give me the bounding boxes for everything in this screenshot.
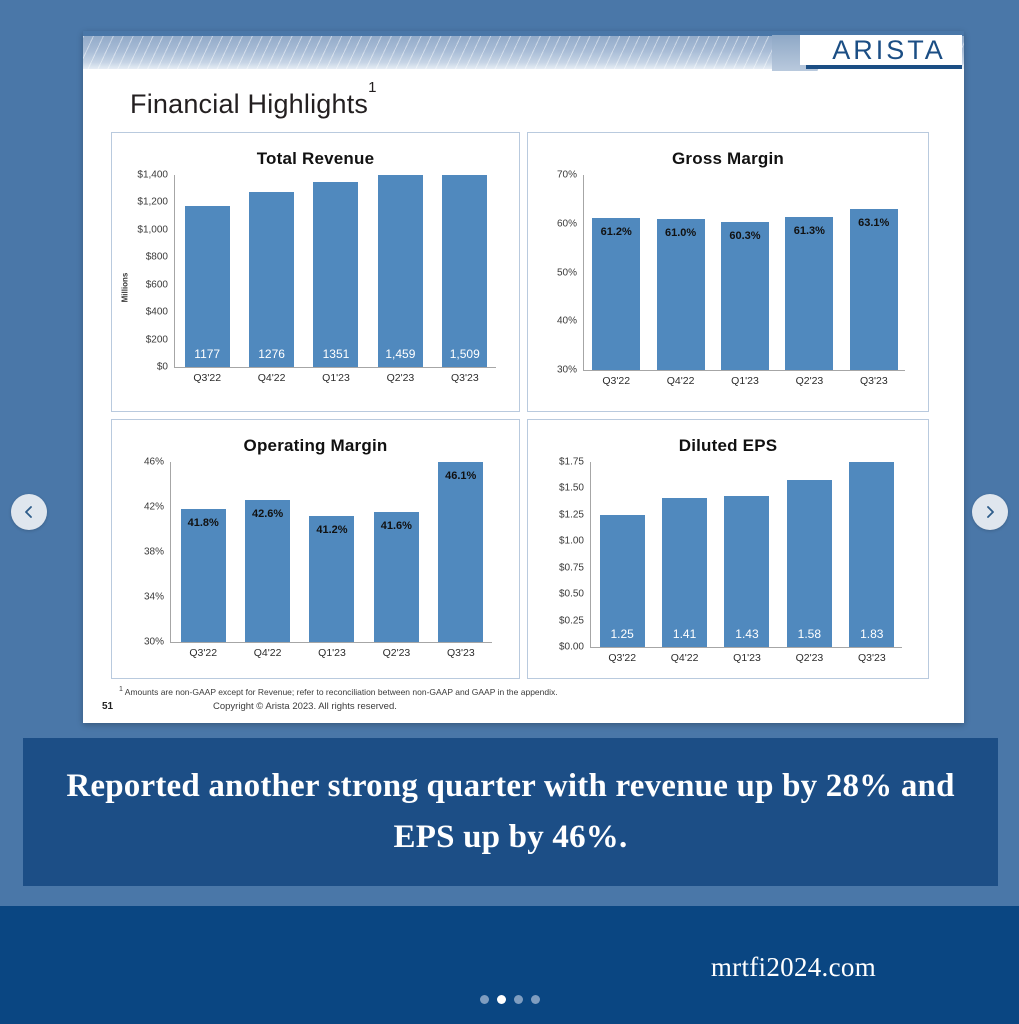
page-title-text: Financial Highlights (130, 89, 368, 119)
carousel-stage: ARISTA Financial Highlights1 Total Reven… (0, 0, 1019, 900)
y-axis-tick-label: 30% (112, 637, 164, 648)
bar-data-label: 1.43 (724, 627, 769, 641)
x-axis-tick-label: Q3'22 (171, 647, 235, 659)
bar-data-label: 1351 (313, 347, 358, 361)
bar-series: 41.8%42.6%41.2%41.6%46.1% (171, 462, 493, 642)
footer-bar: mrtfi2024.com (0, 906, 1019, 1024)
y-axis-tick-label: $1.00 (528, 536, 584, 547)
presentation-slide: ARISTA Financial Highlights1 Total Reven… (83, 31, 964, 723)
bar-data-label: 61.2% (586, 226, 646, 238)
x-axis-labels: Q3'22Q4'22Q1'23Q2'23Q3'23 (171, 647, 493, 659)
bar-data-label: 1,459 (378, 347, 423, 361)
bar: 63.1% (850, 209, 898, 370)
carousel-prev-button[interactable] (11, 494, 47, 530)
y-axis-tick-label: $1.50 (528, 483, 584, 494)
bar-data-label: 1276 (249, 347, 294, 361)
bar: 1.83 (849, 462, 894, 647)
x-axis-line (170, 642, 492, 643)
x-axis-tick-label: Q2'23 (368, 372, 432, 384)
bar: 61.3% (785, 217, 833, 370)
copyright-notice: Copyright © Arista 2023. All rights rese… (213, 701, 397, 712)
chart-title-operating-margin: Operating Margin (112, 436, 519, 456)
carousel-next-button[interactable] (972, 494, 1008, 530)
carousel-dot-1[interactable] (480, 995, 489, 1004)
y-axis-tick-label: $0 (112, 362, 168, 373)
bar: 60.3% (721, 222, 769, 370)
y-axis-tick-label: $1.25 (528, 509, 584, 520)
bar-data-label: 1177 (185, 347, 230, 361)
chart-title-diluted-eps: Diluted EPS (528, 436, 928, 456)
bar-column: 60.3% (721, 175, 769, 370)
chart-card-diluted-eps: Diluted EPS $0.00$0.25$0.50$0.75$1.00$1.… (527, 419, 929, 679)
bar-data-label: 1.58 (787, 627, 832, 641)
y-axis-tick-label: 70% (528, 170, 577, 181)
bar: 1.58 (787, 480, 832, 647)
bar-data-label: 1,509 (442, 347, 487, 361)
x-axis-tick-label: Q1'23 (716, 652, 778, 664)
caption-text: Reported another strong quarter with rev… (63, 761, 958, 863)
bar-column: 63.1% (850, 175, 898, 370)
bar: 61.0% (657, 219, 705, 370)
page-title: Financial Highlights1 (130, 89, 377, 120)
x-axis-line (583, 370, 905, 371)
chevron-left-icon (22, 505, 36, 519)
bar-column: 46.1% (438, 462, 483, 642)
x-axis-tick-label: Q4'22 (653, 652, 715, 664)
carousel-dots[interactable] (0, 995, 1019, 1004)
bar-column: 1.83 (849, 462, 894, 647)
y-axis-tick-label: 38% (112, 547, 164, 558)
arista-logo: ARISTA (772, 35, 962, 71)
chevron-right-icon (983, 505, 997, 519)
y-axis-tick-label: 60% (528, 218, 577, 229)
page-title-superscript: 1 (368, 79, 377, 96)
x-axis-tick-label: Q4'22 (648, 375, 712, 387)
bar-column: 1177 (185, 175, 230, 367)
bar: 42.6% (245, 500, 290, 642)
bar-column: 1.41 (662, 462, 707, 647)
slide-page-number: 51 (102, 701, 113, 712)
bar-data-label: 41.6% (368, 520, 425, 532)
x-axis-tick-label: Q1'23 (304, 372, 368, 384)
x-axis-tick-label: Q1'23 (713, 375, 777, 387)
bar: 61.2% (592, 218, 640, 370)
x-axis-tick-label: Q3'22 (175, 372, 239, 384)
bar-column: 1,509 (442, 175, 487, 367)
bar-column: 1,459 (378, 175, 423, 367)
carousel-dot-2[interactable] (497, 995, 506, 1004)
bar-column: 41.6% (374, 462, 419, 642)
carousel-dot-4[interactable] (531, 995, 540, 1004)
site-url: mrtfi2024.com (711, 952, 876, 983)
x-axis-tick-label: Q3'22 (591, 652, 653, 664)
bar-data-label: 60.3% (715, 230, 775, 242)
footnote: 1 Amounts are non-GAAP except for Revenu… (119, 686, 558, 697)
y-axis-tick-label: $200 (112, 334, 168, 345)
y-axis-tick-label: $1,200 (112, 197, 168, 208)
bar-column: 41.2% (309, 462, 354, 642)
bar: 1351 (313, 182, 358, 367)
bar: 1,459 (378, 175, 423, 367)
bar-column: 1.58 (787, 462, 832, 647)
y-axis-tick-label: $1,400 (112, 170, 168, 181)
bar: 41.8% (181, 509, 226, 642)
x-axis-tick-label: Q2'23 (778, 652, 840, 664)
bar: 1.25 (600, 515, 645, 647)
x-axis-tick-label: Q3'22 (584, 375, 648, 387)
x-axis-tick-label: Q2'23 (777, 375, 841, 387)
x-axis-tick-label: Q4'22 (235, 647, 299, 659)
logo-wordmark: ARISTA (814, 35, 962, 66)
x-axis-tick-label: Q3'23 (433, 372, 497, 384)
bar-series: 61.2%61.0%60.3%61.3%63.1% (584, 175, 906, 370)
y-axis-tick-label: $800 (112, 252, 168, 263)
bar-column: 42.6% (245, 462, 290, 642)
y-axis-tick-label: $1,000 (112, 224, 168, 235)
bar-column: 1.25 (600, 462, 645, 647)
carousel-dot-3[interactable] (514, 995, 523, 1004)
y-axis-tick-label: $0.75 (528, 562, 584, 573)
bar-column: 61.3% (785, 175, 833, 370)
bar: 1.41 (662, 498, 707, 647)
chart-card-operating-margin: Operating Margin 30%34%38%42%46%41.8%42.… (111, 419, 520, 679)
x-axis-line (174, 367, 496, 368)
x-axis-line (590, 647, 902, 648)
bar: 41.2% (309, 516, 354, 642)
x-axis-tick-label: Q3'23 (842, 375, 906, 387)
bar-data-label: 1.41 (662, 627, 707, 641)
bar-data-label: 42.6% (239, 508, 296, 520)
y-axis-tick-label: 46% (112, 457, 164, 468)
bar-data-label: 1.83 (849, 627, 894, 641)
y-axis-tick-label: $0.50 (528, 589, 584, 600)
chart-card-gross-margin: Gross Margin 30%40%50%60%70%61.2%61.0%60… (527, 132, 929, 412)
chart-title-gross-margin: Gross Margin (528, 149, 928, 169)
bar: 1,509 (442, 175, 487, 367)
x-axis-tick-label: Q1'23 (300, 647, 364, 659)
bar-data-label: 1.25 (600, 627, 645, 641)
bar-column: 1351 (313, 175, 358, 367)
caption-banner: Reported another strong quarter with rev… (23, 738, 998, 886)
bar: 1.43 (724, 496, 769, 647)
y-axis-tick-label: 50% (528, 267, 577, 278)
bar-column: 61.2% (592, 175, 640, 370)
y-axis-tick-label: 40% (528, 316, 577, 327)
x-axis-labels: Q3'22Q4'22Q1'23Q2'23Q3'23 (584, 375, 906, 387)
chart-title-total-revenue: Total Revenue (112, 149, 519, 169)
logo-underline (806, 65, 962, 69)
bar: 1177 (185, 206, 230, 367)
y-axis-tick-label: $0.25 (528, 615, 584, 626)
bar-data-label: 63.1% (844, 217, 904, 229)
bar: 1276 (249, 192, 294, 367)
y-axis-tick-label: 30% (528, 365, 577, 376)
bar-series: 1177127613511,4591,509 (175, 175, 497, 367)
bar-data-label: 41.2% (303, 524, 360, 536)
bar-data-label: 46.1% (432, 470, 489, 482)
y-axis-unit-label: Millions (121, 266, 130, 310)
chart-card-total-revenue: Total Revenue $0$200$400$600$800$1,000$1… (111, 132, 520, 412)
x-axis-labels: Q3'22Q4'22Q1'23Q2'23Q3'23 (591, 652, 903, 664)
bar-series: 1.251.411.431.581.83 (591, 462, 903, 647)
x-axis-tick-label: Q3'23 (841, 652, 903, 664)
bar-column: 41.8% (181, 462, 226, 642)
bar-data-label: 61.0% (651, 227, 711, 239)
bar-column: 1276 (249, 175, 294, 367)
bar: 46.1% (438, 462, 483, 642)
bar-data-label: 61.3% (779, 225, 839, 237)
x-axis-tick-label: Q2'23 (364, 647, 428, 659)
y-axis-tick-label: 34% (112, 592, 164, 603)
bar-data-label: 41.8% (175, 517, 232, 529)
bar-column: 1.43 (724, 462, 769, 647)
x-axis-labels: Q3'22Q4'22Q1'23Q2'23Q3'23 (175, 372, 497, 384)
footnote-text: Amounts are non-GAAP except for Revenue;… (123, 687, 558, 697)
x-axis-tick-label: Q4'22 (239, 372, 303, 384)
x-axis-tick-label: Q3'23 (429, 647, 493, 659)
y-axis-tick-label: $1.75 (528, 457, 584, 468)
y-axis-tick-label: $0.00 (528, 642, 584, 653)
y-axis-tick-label: 42% (112, 502, 164, 513)
bar: 41.6% (374, 512, 419, 643)
bar-column: 61.0% (657, 175, 705, 370)
